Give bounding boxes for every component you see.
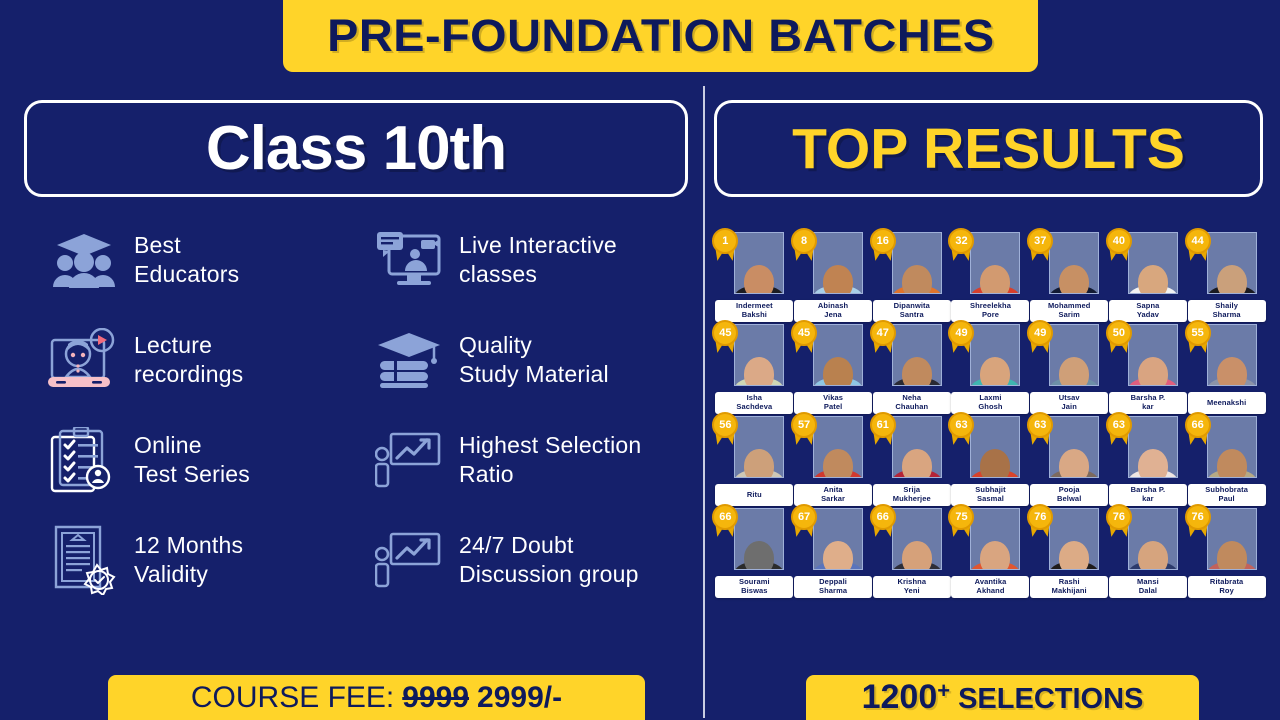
rank-number: 76 xyxy=(1106,504,1132,530)
student-name: Ritu xyxy=(747,491,762,500)
top-results-grid: 1IndermeetBakshi8AbinashJena16DipanwitaS… xyxy=(715,232,1266,598)
rank-number: 55 xyxy=(1185,320,1211,346)
student-result-card: 76RashiMakhijani xyxy=(1030,508,1108,598)
student-result-card: 66SouramiBiswas xyxy=(715,508,793,598)
student-nameplate: IndermeetBakshi xyxy=(715,300,793,322)
rank-badge-icon: 16 xyxy=(870,228,900,266)
student-name: UtsavJain xyxy=(1059,394,1080,412)
student-name: DeppaliSharma xyxy=(819,578,847,596)
rank-number: 66 xyxy=(870,504,896,530)
rank-badge-icon: 75 xyxy=(948,504,978,542)
rank-badge-icon: 76 xyxy=(1185,504,1215,542)
results-title: TOP RESULTS xyxy=(792,116,1185,182)
selections-text: 1200+SELECTIONS xyxy=(862,678,1144,717)
student-name: Meenakshi xyxy=(1207,399,1246,408)
student-name: ShreelekhaPore xyxy=(970,302,1011,320)
student-result-card: 37MohammedSarim xyxy=(1030,232,1108,322)
student-name: SouramiBiswas xyxy=(739,578,770,596)
feature-item: OnlineTest Series xyxy=(48,410,373,510)
student-result-card: 61SrijaMukherjee xyxy=(873,416,951,506)
student-nameplate: ShailySharma xyxy=(1188,300,1266,322)
student-nameplate: IshaSachdeva xyxy=(715,392,793,414)
course-fee-label: COURSE FEE: xyxy=(191,681,394,715)
student-nameplate: AnitaSarkar xyxy=(794,484,872,506)
student-name: Barsha P.kar xyxy=(1131,394,1166,412)
student-result-card: 67DeppaliSharma xyxy=(794,508,872,598)
student-name: Barsha P.kar xyxy=(1131,486,1166,504)
rank-number: 8 xyxy=(791,228,817,254)
rank-badge-icon: 66 xyxy=(712,504,742,542)
rank-badge-icon: 63 xyxy=(1027,412,1057,450)
rank-number: 50 xyxy=(1106,320,1132,346)
student-name: SrijaMukherjee xyxy=(893,486,931,504)
student-result-card: 45VikasPatel xyxy=(794,324,872,414)
features-list: BestEducators Live Interactiveclasses Le… xyxy=(48,210,698,610)
student-nameplate: RashiMakhijani xyxy=(1030,576,1108,598)
rank-badge-icon: 37 xyxy=(1027,228,1057,266)
rank-badge-icon: 61 xyxy=(870,412,900,450)
student-name: MohammedSarim xyxy=(1048,302,1090,320)
student-result-card: 76MansiDalal xyxy=(1109,508,1187,598)
live-classes-icon xyxy=(373,224,445,296)
student-name: MansiDalal xyxy=(1137,578,1159,596)
class-title-box: Class 10th xyxy=(24,100,688,197)
student-nameplate: Barsha P.kar xyxy=(1109,484,1187,506)
student-name: LaxmiGhosh xyxy=(978,394,1002,412)
student-nameplate: LaxmiGhosh xyxy=(951,392,1029,414)
test-series-icon xyxy=(48,424,120,496)
student-name: SubhajitSasmal xyxy=(975,486,1005,504)
student-nameplate: VikasPatel xyxy=(794,392,872,414)
student-nameplate: SubhajitSasmal xyxy=(951,484,1029,506)
student-result-card: 66KrishnaYeni xyxy=(873,508,951,598)
lecture-recording-icon xyxy=(48,324,120,396)
student-nameplate: UtsavJain xyxy=(1030,392,1108,414)
student-name: IndermeetBakshi xyxy=(736,302,773,320)
student-nameplate: SrijaMukherjee xyxy=(873,484,951,506)
feature-label: OnlineTest Series xyxy=(134,431,250,490)
feature-label: QualityStudy Material xyxy=(459,331,609,390)
student-name: SubhobrataPaul xyxy=(1205,486,1248,504)
student-nameplate: Ritu xyxy=(715,484,793,506)
student-result-card: 47NehaChauhan xyxy=(873,324,951,414)
class-title: Class 10th xyxy=(206,113,506,184)
rank-number: 40 xyxy=(1106,228,1132,254)
student-result-card: 45IshaSachdeva xyxy=(715,324,793,414)
rank-badge-icon: 44 xyxy=(1185,228,1215,266)
student-result-card: 56Ritu xyxy=(715,416,793,506)
study-material-icon xyxy=(373,324,445,396)
student-nameplate: DeppaliSharma xyxy=(794,576,872,598)
student-result-card: 1IndermeetBakshi xyxy=(715,232,793,322)
student-result-card: 32ShreelekhaPore xyxy=(951,232,1029,322)
results-title-box: TOP RESULTS xyxy=(714,100,1263,197)
student-name: IshaSachdeva xyxy=(736,394,772,412)
course-fee-old-price: 9999 xyxy=(402,681,469,715)
student-name: AnitaSarkar xyxy=(821,486,845,504)
feature-item: Lecturerecordings xyxy=(48,310,373,410)
student-nameplate: RitabrataRoy xyxy=(1188,576,1266,598)
rank-number: 57 xyxy=(791,412,817,438)
rank-number: 76 xyxy=(1185,504,1211,530)
student-name: VikasPatel xyxy=(823,394,843,412)
student-nameplate: DipanwitaSantra xyxy=(873,300,951,322)
student-name: KrishnaYeni xyxy=(897,578,926,596)
student-result-card: 66SubhobrataPaul xyxy=(1188,416,1266,506)
rank-badge-icon: 47 xyxy=(870,320,900,358)
student-name: ShailySharma xyxy=(1213,302,1241,320)
student-result-card: 55Meenakshi xyxy=(1188,324,1266,414)
feature-item: Highest SelectionRatio xyxy=(373,410,698,510)
rank-badge-icon: 45 xyxy=(712,320,742,358)
rank-badge-icon: 49 xyxy=(1027,320,1057,358)
rank-badge-icon: 76 xyxy=(1106,504,1136,542)
student-name: AvantikaAkhand xyxy=(975,578,1007,596)
feature-item: Live Interactiveclasses xyxy=(373,210,698,310)
rank-badge-icon: 66 xyxy=(870,504,900,542)
feature-label: 12 MonthsValidity xyxy=(134,531,243,590)
student-result-card: 49LaxmiGhosh xyxy=(951,324,1029,414)
student-nameplate: MansiDalal xyxy=(1109,576,1187,598)
student-result-card: 49UtsavJain xyxy=(1030,324,1108,414)
student-nameplate: SubhobrataPaul xyxy=(1188,484,1266,506)
selections-plus: + xyxy=(937,678,950,704)
course-fee-new-price: 2999/- xyxy=(477,681,562,715)
feature-item: BestEducators xyxy=(48,210,373,310)
course-fee-banner: COURSE FEE: 9999 2999/- xyxy=(108,675,645,720)
student-nameplate: NehaChauhan xyxy=(873,392,951,414)
rank-badge-icon: 8 xyxy=(791,228,821,266)
feature-label: 24/7 DoubtDiscussion group xyxy=(459,531,639,590)
student-result-card: 44ShailySharma xyxy=(1188,232,1266,322)
rank-badge-icon: 50 xyxy=(1106,320,1136,358)
feature-item: QualityStudy Material xyxy=(373,310,698,410)
rank-number: 61 xyxy=(870,412,896,438)
student-nameplate: MohammedSarim xyxy=(1030,300,1108,322)
rank-badge-icon: 57 xyxy=(791,412,821,450)
feature-item: 24/7 DoubtDiscussion group xyxy=(373,510,698,610)
rank-badge-icon: 56 xyxy=(712,412,742,450)
rank-badge-icon: 55 xyxy=(1185,320,1215,358)
student-nameplate: SapnaYadav xyxy=(1109,300,1187,322)
student-name: DipanwitaSantra xyxy=(894,302,930,320)
rank-badge-icon: 67 xyxy=(791,504,821,542)
student-name: RashiMakhijani xyxy=(1052,578,1087,596)
student-result-card: 76RitabrataRoy xyxy=(1188,508,1266,598)
page-title: PRE-FOUNDATION BATCHES xyxy=(327,10,995,62)
student-result-card: 57AnitaSarkar xyxy=(794,416,872,506)
student-result-card: 40SapnaYadav xyxy=(1109,232,1187,322)
rank-badge-icon: 76 xyxy=(1027,504,1057,542)
feature-label: Lecturerecordings xyxy=(134,331,243,390)
student-result-card: 63Barsha P.kar xyxy=(1109,416,1187,506)
student-name: AbinashJena xyxy=(818,302,848,320)
right-panel: TOP RESULTS 1IndermeetBakshi8AbinashJena… xyxy=(703,80,1280,720)
rank-number: 67 xyxy=(791,504,817,530)
student-name: NehaChauhan xyxy=(895,394,928,412)
student-nameplate: KrishnaYeni xyxy=(873,576,951,598)
rank-badge-icon: 49 xyxy=(948,320,978,358)
student-name: PoojaBelwal xyxy=(1057,486,1081,504)
student-result-card: 50Barsha P.kar xyxy=(1109,324,1187,414)
student-nameplate: Meenakshi xyxy=(1188,392,1266,414)
student-name: SapnaYadav xyxy=(1136,302,1159,320)
rank-badge-icon: 63 xyxy=(948,412,978,450)
rank-badge-icon: 40 xyxy=(1106,228,1136,266)
rank-number: 44 xyxy=(1185,228,1211,254)
feature-label: Live Interactiveclasses xyxy=(459,231,617,290)
student-result-card: 63SubhajitSasmal xyxy=(951,416,1029,506)
feature-label: BestEducators xyxy=(134,231,239,290)
rank-badge-icon: 66 xyxy=(1185,412,1215,450)
rank-number: 45 xyxy=(791,320,817,346)
rank-badge-icon: 32 xyxy=(948,228,978,266)
validity-certificate-icon xyxy=(48,524,120,596)
student-result-card: 16DipanwitaSantra xyxy=(873,232,951,322)
selections-count: 1200 xyxy=(862,678,938,717)
student-nameplate: AvantikaAkhand xyxy=(951,576,1029,598)
selections-banner: 1200+SELECTIONS xyxy=(806,675,1199,720)
left-panel: Class 10th BestEducators Live Interactiv… xyxy=(0,80,700,720)
rank-number: 16 xyxy=(870,228,896,254)
student-nameplate: SouramiBiswas xyxy=(715,576,793,598)
student-result-card: 75AvantikaAkhand xyxy=(951,508,1029,598)
rank-number: 47 xyxy=(870,320,896,346)
student-name: RitabrataRoy xyxy=(1210,578,1243,596)
student-nameplate: Barsha P.kar xyxy=(1109,392,1187,414)
student-nameplate: ShreelekhaPore xyxy=(951,300,1029,322)
student-nameplate: AbinashJena xyxy=(794,300,872,322)
selection-ratio-icon xyxy=(373,424,445,496)
rank-number: 63 xyxy=(1106,412,1132,438)
student-result-card: 63PoojaBelwal xyxy=(1030,416,1108,506)
selections-label: SELECTIONS xyxy=(958,683,1143,716)
student-nameplate: PoojaBelwal xyxy=(1030,484,1108,506)
feature-label: Highest SelectionRatio xyxy=(459,431,641,490)
rank-number: 66 xyxy=(1185,412,1211,438)
graduation-group-icon xyxy=(48,224,120,296)
top-title-banner: PRE-FOUNDATION BATCHES xyxy=(283,0,1038,72)
rank-badge-icon: 1 xyxy=(712,228,742,266)
student-result-card: 8AbinashJena xyxy=(794,232,872,322)
doubt-group-icon xyxy=(373,524,445,596)
feature-item: 12 MonthsValidity xyxy=(48,510,373,610)
rank-badge-icon: 45 xyxy=(791,320,821,358)
rank-badge-icon: 63 xyxy=(1106,412,1136,450)
poster-root: PRE-FOUNDATION BATCHES Class 10th BestEd… xyxy=(0,0,1280,720)
